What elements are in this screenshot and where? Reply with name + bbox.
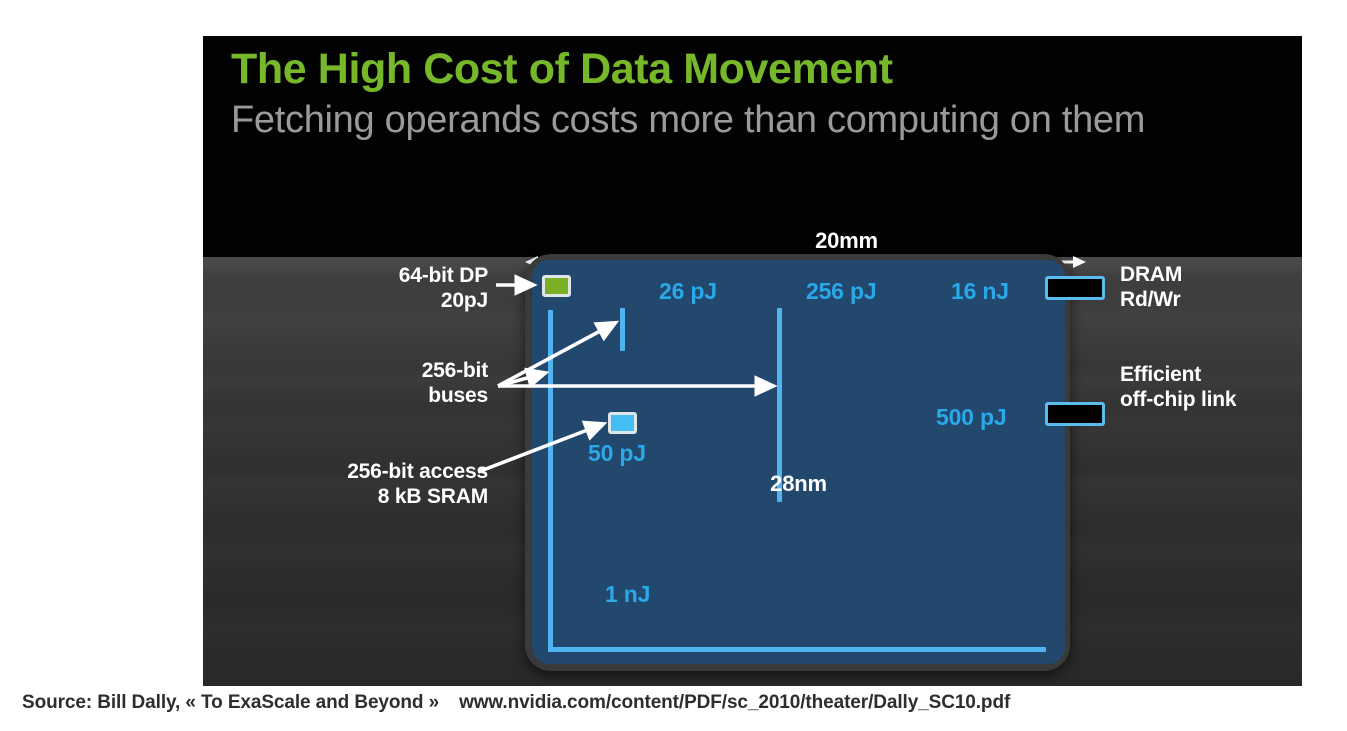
callout-dram-line1: DRAM [1120, 262, 1182, 287]
energy-long-bus: 256 pJ [806, 278, 876, 305]
bus-line-left-vertical [548, 310, 553, 443]
callout-256bit-buses: 256-bit buses [323, 358, 488, 408]
callout-sram-access: 256-bit access 8 kB SRAM [273, 459, 488, 509]
die-width-value: 20mm [815, 228, 878, 253]
callout-sram-line1: 256-bit access [273, 459, 488, 484]
callout-dram: DRAM Rd/Wr [1120, 262, 1182, 312]
callout-link-line2: off-chip link [1120, 387, 1236, 412]
energy-sram-access: 50 pJ [588, 440, 646, 467]
die-width-label: 20mm [203, 228, 1302, 254]
callout-buses-line2: buses [323, 383, 488, 408]
source-caption: Source: Bill Dally, « To ExaScale and Be… [22, 692, 1010, 714]
page-root: The High Cost of Data Movement Fetching … [0, 0, 1347, 731]
source-url[interactable]: www.nvidia.com/content/PDF/sc_2010/theat… [459, 692, 1010, 713]
callout-sram-line2: 8 kB SRAM [273, 484, 488, 509]
energy-offchip-link: 500 pJ [936, 404, 1006, 431]
energy-short-bus: 26 pJ [659, 278, 717, 305]
callout-buses-line1: 256-bit [323, 358, 488, 383]
energy-cross-chip: 1 nJ [605, 581, 650, 608]
bus-line-crosschip-horizontal [548, 647, 1046, 652]
slide-subtitle: Fetching operands costs more than comput… [231, 99, 1145, 142]
slide-header: The High Cost of Data Movement Fetching … [203, 36, 1302, 257]
callout-fp64-line1: 64-bit DP [323, 263, 488, 288]
slide-title: The High Cost of Data Movement [231, 45, 893, 94]
process-node-label: 28nm [532, 471, 1065, 497]
bus-line-short-vertical [620, 308, 625, 351]
source-citation: Source: Bill Dally, « To ExaScale and Be… [22, 692, 439, 713]
bus-line-crosschip-vertical [548, 436, 553, 652]
sram-unit-box [608, 412, 637, 434]
fp64-unit-box [542, 275, 571, 297]
callout-link-line1: Efficient [1120, 362, 1236, 387]
callout-fp64-unit: 64-bit DP 20pJ [323, 263, 488, 313]
slide-canvas: The High Cost of Data Movement Fetching … [203, 36, 1302, 686]
energy-dram-access: 16 nJ [951, 278, 1009, 305]
callout-dram-line2: Rd/Wr [1120, 287, 1182, 312]
dram-io-box [1045, 276, 1105, 300]
callout-offchip-link: Efficient off-chip link [1120, 362, 1236, 412]
offchip-link-io-box [1045, 402, 1105, 426]
callout-fp64-line2: 20pJ [323, 288, 488, 313]
